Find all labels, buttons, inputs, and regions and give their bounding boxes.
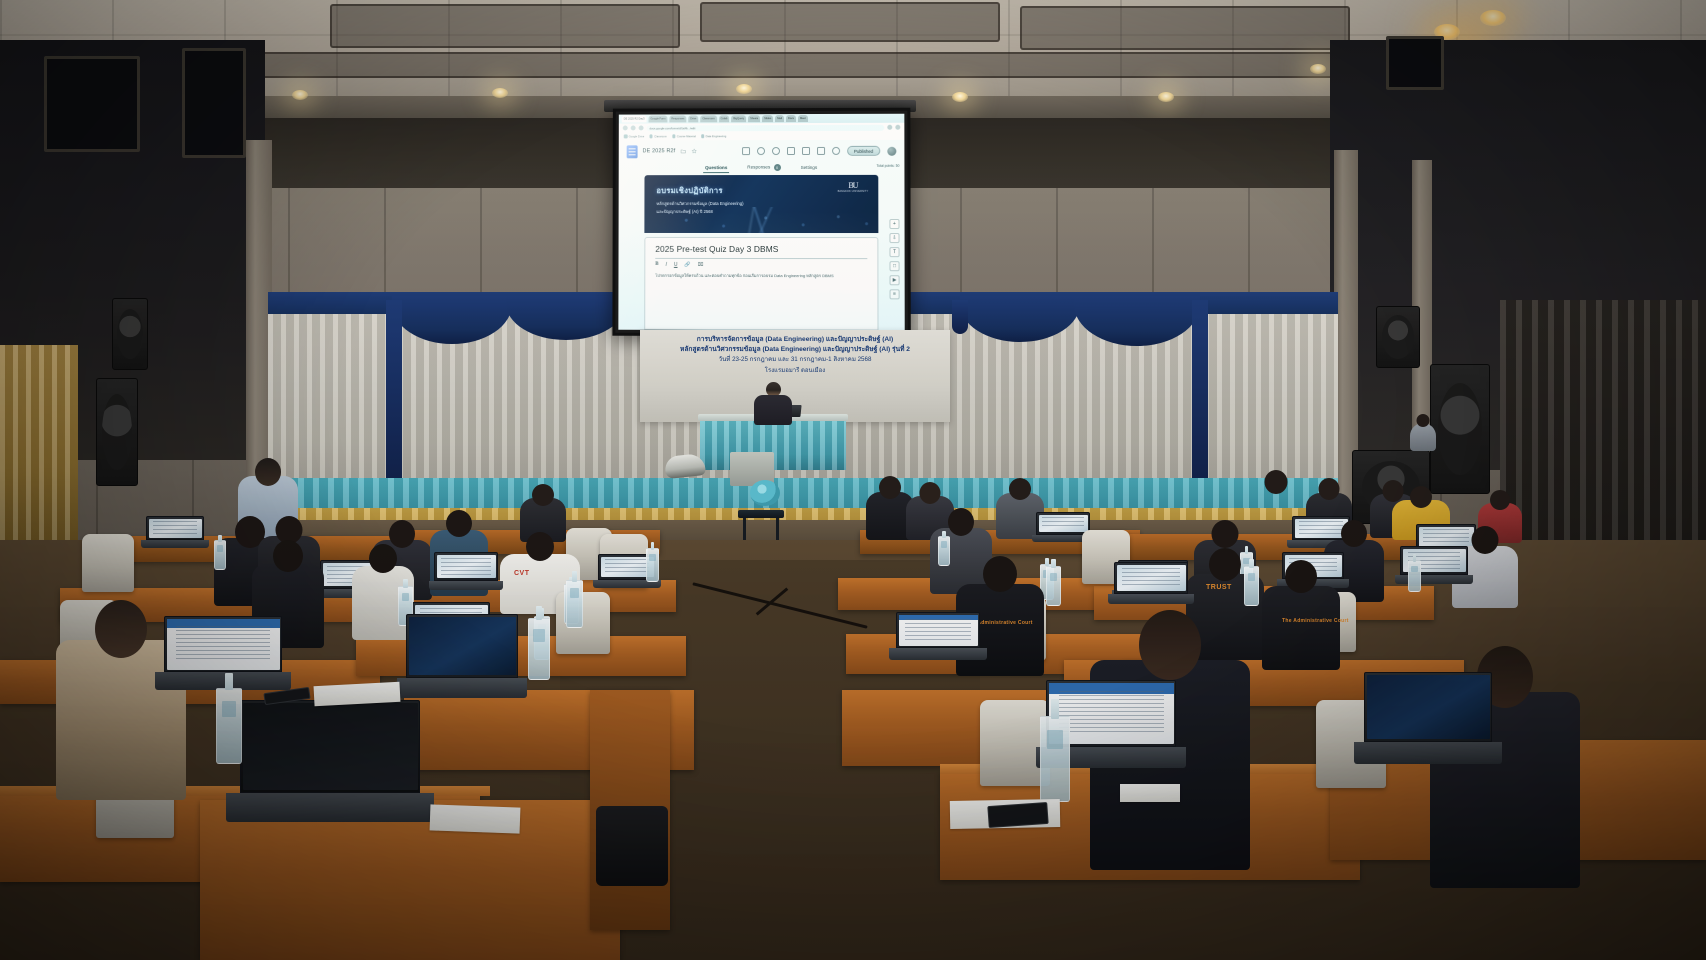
screen-text-lines bbox=[1042, 517, 1083, 529]
laptop bbox=[146, 516, 204, 548]
logo-subtext: BANGKOK UNIVERSITY bbox=[838, 190, 869, 193]
flower-arrangement bbox=[750, 480, 780, 514]
laptop bbox=[1364, 672, 1492, 764]
laptop bbox=[434, 552, 498, 590]
ceiling-downlight bbox=[1158, 92, 1174, 102]
ceiling-coffer bbox=[700, 2, 1000, 42]
link-icon[interactable]: 🔗 bbox=[684, 262, 690, 268]
banner-line-1: การบริหารจัดการข้อมูล (Data Engineering)… bbox=[640, 335, 950, 345]
laptop-base bbox=[226, 793, 435, 822]
water-bottle bbox=[528, 618, 550, 680]
title-underline bbox=[655, 258, 867, 259]
clear-format-icon[interactable]: ⌧ bbox=[698, 262, 704, 268]
attendee-head bbox=[983, 556, 1017, 592]
bookmark-label: Data Engineering bbox=[706, 135, 727, 138]
floor-bag bbox=[596, 806, 668, 886]
profile-icon[interactable] bbox=[895, 125, 900, 130]
attendee-head bbox=[1417, 414, 1430, 427]
water-bottle bbox=[566, 580, 583, 628]
laptop-lid bbox=[434, 552, 498, 581]
google-forms-editor: DE 2025 R2f Pub bbox=[618, 140, 904, 331]
wall-window bbox=[1386, 36, 1444, 90]
form-description-input[interactable]: โปรดกรอกข้อมูลให้ครบถ้วน และตอบคำถามทุกข… bbox=[655, 272, 867, 279]
water-bottle bbox=[1046, 566, 1061, 606]
smartphone bbox=[987, 802, 1048, 828]
avatar[interactable] bbox=[887, 146, 896, 155]
water-bottle bbox=[214, 540, 226, 570]
side-curtain-gold bbox=[0, 345, 78, 555]
browser-tab[interactable]: Slides bbox=[762, 115, 773, 122]
attendee-head bbox=[273, 540, 303, 572]
tab-settings[interactable]: Settings bbox=[801, 165, 818, 172]
laptop-lid bbox=[146, 516, 204, 540]
laptop-lid bbox=[406, 614, 518, 678]
laptop-base bbox=[397, 678, 527, 698]
attendee-head bbox=[1265, 470, 1288, 494]
screen-text-lines bbox=[176, 626, 271, 662]
pa-speaker bbox=[1430, 364, 1490, 494]
water-bottle bbox=[1040, 716, 1070, 802]
browser-tab[interactable]: Meet bbox=[798, 115, 808, 122]
water-bottle bbox=[1244, 566, 1259, 606]
add-title-icon[interactable]: T bbox=[889, 247, 899, 257]
wall-window bbox=[44, 56, 140, 152]
attendee-head bbox=[1319, 478, 1340, 500]
bookmark-item[interactable]: Data Engineering bbox=[701, 134, 727, 138]
bookmark-icon bbox=[672, 135, 675, 138]
attendee-head bbox=[1490, 490, 1510, 510]
ceiling-downlight bbox=[736, 84, 752, 94]
add-collaborator-icon[interactable] bbox=[832, 147, 840, 155]
attendee-head bbox=[369, 544, 397, 573]
forms-topbar-actions: Published bbox=[742, 146, 897, 156]
forms-tab-bar[interactable]: Questions Responses 0 Settings bbox=[619, 162, 905, 175]
total-points-label: Total points: 50 bbox=[876, 164, 899, 168]
laptop-lid bbox=[1364, 672, 1492, 742]
projection-screen: DE 2025 R2 Day3 Google Form Responses Dr… bbox=[612, 108, 910, 337]
seminar-room-photo: DE 2025 R2 Day3 Google Form Responses Dr… bbox=[0, 0, 1706, 960]
laptop-base bbox=[141, 540, 208, 548]
bookmark-item[interactable]: Classroom bbox=[649, 135, 667, 139]
ceiling-coffer bbox=[250, 52, 1430, 78]
screen-text-lines bbox=[1122, 568, 1180, 587]
form-title-card[interactable]: 2025 Pre-test Quiz Day 3 DBMS B I U 🔗 ⌧ … bbox=[644, 237, 878, 331]
banner-university-logo: BU BANGKOK UNIVERSITY bbox=[838, 181, 869, 193]
logo-mark: BU bbox=[838, 181, 869, 190]
link-icon[interactable] bbox=[772, 147, 780, 155]
preview-icon[interactable] bbox=[757, 147, 765, 155]
laptop-base bbox=[1108, 594, 1194, 604]
banner-headline: อบรมเชิงปฏิบัติการ bbox=[656, 185, 743, 197]
attendee-head bbox=[532, 484, 554, 506]
attendee-body bbox=[1262, 586, 1340, 670]
reload-icon[interactable] bbox=[639, 125, 644, 130]
customize-theme-icon[interactable] bbox=[742, 147, 750, 155]
pa-speaker bbox=[1376, 306, 1420, 368]
bold-icon[interactable]: B bbox=[655, 262, 658, 267]
laptop-screen bbox=[167, 619, 280, 670]
water-bottle bbox=[646, 548, 659, 582]
laptop-screen bbox=[409, 617, 516, 676]
underline-icon[interactable]: U bbox=[674, 262, 678, 268]
laptop-lid bbox=[164, 616, 282, 672]
add-section-icon[interactable]: ≡ bbox=[890, 289, 900, 299]
forms-topbar: DE 2025 R2f Pub bbox=[619, 140, 905, 163]
bookmark-icon bbox=[624, 135, 627, 138]
browser-tab[interactable]: Drive bbox=[688, 115, 698, 122]
rich-text-toolbar[interactable]: B I U 🔗 ⌧ bbox=[655, 262, 867, 268]
laptop-screen bbox=[243, 703, 418, 791]
laptop-lid bbox=[896, 612, 980, 648]
add-image-icon[interactable]: □ bbox=[889, 261, 899, 271]
laptop-screen bbox=[437, 555, 496, 579]
banner-text-block: อบรมเชิงปฏิบัติการ หลักสูตรด้านวิศวกรรมข… bbox=[656, 185, 743, 215]
laptop bbox=[164, 616, 282, 690]
attendee-head bbox=[879, 476, 901, 499]
ceiling-coffer bbox=[330, 4, 680, 48]
folder-icon[interactable] bbox=[680, 148, 686, 154]
bookmark-icon bbox=[701, 134, 704, 137]
bookmark-item[interactable]: Course Material bbox=[672, 135, 696, 139]
browser-tab[interactable]: Responses bbox=[669, 115, 686, 122]
form-banner-image[interactable]: อบรมเชิงปฏิบัติการ หลักสูตรด้านวิศวกรรมข… bbox=[644, 175, 878, 233]
laptop-base bbox=[889, 648, 986, 660]
laptop-base bbox=[1354, 742, 1502, 764]
form-document-title[interactable]: DE 2025 R2f bbox=[643, 148, 676, 154]
extensions-icon[interactable] bbox=[887, 125, 892, 130]
attendee-head bbox=[95, 600, 147, 658]
banner-line-3: วันที่ 23-25 กรกฎาคม และ 31 กรกฎาคม-1 สิ… bbox=[640, 356, 950, 365]
laptop bbox=[406, 614, 518, 698]
side-curtain-dark bbox=[1500, 300, 1706, 560]
ceiling-downlight bbox=[952, 92, 968, 102]
browser-tab[interactable]: Docs bbox=[786, 115, 796, 122]
attendee-head bbox=[255, 458, 281, 486]
water-bottle bbox=[938, 536, 950, 566]
shirt-graphic-text: TRUST bbox=[1206, 584, 1232, 591]
curtain-swag-tail bbox=[386, 300, 402, 490]
attendee bbox=[1410, 414, 1436, 450]
laptop-base bbox=[429, 581, 503, 590]
ceiling-downlight bbox=[492, 88, 508, 98]
laptop-lid bbox=[1114, 562, 1188, 594]
laptop-screen bbox=[899, 615, 978, 646]
ceiling-downlight bbox=[1310, 64, 1326, 74]
send-icon[interactable] bbox=[817, 147, 825, 155]
forward-icon[interactable] bbox=[631, 125, 636, 130]
pa-speaker bbox=[96, 378, 138, 486]
add-video-icon[interactable]: ▶ bbox=[890, 275, 900, 285]
bookmark-label: Classroom bbox=[654, 135, 667, 138]
browser-tab[interactable]: Classroom bbox=[700, 115, 716, 122]
attendee-head bbox=[1341, 520, 1367, 547]
laptop-lid bbox=[240, 700, 420, 793]
wall-window bbox=[182, 48, 246, 158]
forms-canvas: อบรมเชิงปฏิบัติการ หลักสูตรด้านวิศวกรรมข… bbox=[618, 175, 904, 331]
shirt-graphic-text: The Administrative Court bbox=[1282, 618, 1349, 624]
address-bar[interactable]: docs.google.com/forms/d/1aXk.../edit bbox=[647, 124, 885, 131]
browser-tab[interactable]: Google Form bbox=[648, 115, 667, 122]
laptop-base bbox=[1395, 575, 1474, 584]
browser-tab-active[interactable]: DE 2025 R2 Day3 bbox=[622, 116, 647, 123]
browser-tab[interactable]: Mail bbox=[775, 115, 784, 122]
banner-line-4: โรงแรมอมารี ดอนเมือง bbox=[640, 367, 950, 376]
attendee-head bbox=[920, 482, 941, 504]
tab-questions[interactable]: Questions bbox=[705, 165, 727, 172]
star-icon[interactable] bbox=[691, 148, 697, 154]
presenter-person bbox=[752, 382, 794, 424]
browser-tab[interactable]: Colab bbox=[719, 115, 730, 122]
presenter-body bbox=[754, 395, 792, 425]
attendee-head bbox=[1209, 548, 1241, 581]
bookmark-label: Google Drive bbox=[629, 135, 645, 138]
google-forms-icon bbox=[627, 145, 638, 158]
shirt-graphic-text: CVT bbox=[514, 570, 530, 577]
bookmark-label: Course Material bbox=[677, 135, 696, 138]
undo-icon[interactable] bbox=[787, 147, 795, 155]
laptop-screen bbox=[1039, 515, 1088, 533]
attendee-body bbox=[1410, 423, 1436, 451]
curtain-swag-tail bbox=[952, 300, 968, 334]
av-cart-top bbox=[738, 510, 784, 518]
laptop bbox=[240, 700, 420, 822]
chair bbox=[82, 534, 134, 592]
attendee-head bbox=[1212, 520, 1239, 548]
screen-text-lines bbox=[1059, 691, 1164, 734]
screen-text-lines bbox=[605, 559, 650, 574]
screen-text-lines bbox=[441, 558, 491, 575]
responses-count-badge: 0 bbox=[774, 164, 781, 171]
import-questions-icon[interactable]: ⇩ bbox=[889, 233, 899, 243]
redo-icon[interactable] bbox=[802, 147, 810, 155]
desk-row bbox=[200, 800, 620, 960]
attendee-head bbox=[1410, 486, 1432, 508]
water-bottle bbox=[1408, 560, 1421, 592]
form-title-input[interactable]: 2025 Pre-test Quiz Day 3 DBMS bbox=[655, 244, 867, 254]
ceiling-spotlight bbox=[1480, 10, 1506, 26]
browser-tab[interactable]: Sheets bbox=[748, 115, 760, 122]
banner-line-2: หลักสูตรด้านวิศวกรรมข้อมูล (Data Enginee… bbox=[640, 345, 950, 355]
attendee-head bbox=[446, 510, 472, 537]
water-bottle bbox=[216, 688, 242, 764]
laptop-screen bbox=[149, 519, 202, 538]
laptop bbox=[1114, 562, 1188, 604]
laptop-screen bbox=[1367, 675, 1490, 740]
attendee-head bbox=[1139, 610, 1201, 680]
italic-icon[interactable]: I bbox=[666, 262, 667, 268]
attendee-head bbox=[1009, 478, 1031, 500]
laptop-screen bbox=[1117, 565, 1186, 592]
attendee-head bbox=[948, 508, 974, 536]
laptop bbox=[896, 612, 980, 660]
laptop-lid bbox=[1036, 512, 1090, 535]
attendee-head bbox=[1472, 526, 1499, 554]
bookmark-item[interactable]: Google Drive bbox=[624, 135, 645, 139]
tab-responses-label: Responses bbox=[747, 165, 770, 170]
bookmark-icon bbox=[649, 135, 652, 138]
banner-subline-2: และปัญญาประดิษฐ์ (AI) ปี 2568 bbox=[656, 208, 743, 215]
attendee-head bbox=[1285, 560, 1317, 593]
forms-side-rail[interactable]: + ⇩ T □ ▶ ≡ bbox=[888, 219, 900, 299]
ceiling-downlight bbox=[292, 90, 308, 100]
flower-ball bbox=[750, 480, 780, 506]
attendee-head bbox=[526, 532, 554, 561]
tab-responses[interactable]: Responses 0 bbox=[747, 164, 780, 173]
ceiling-coffer bbox=[1020, 6, 1350, 50]
add-question-icon[interactable]: + bbox=[889, 219, 899, 229]
browser-tab[interactable]: BigQuery bbox=[731, 115, 746, 122]
attendee bbox=[1262, 560, 1340, 670]
curtain-swag-tail bbox=[1192, 300, 1208, 490]
paper-sheet bbox=[1120, 784, 1180, 802]
banner-subline-1: หลักสูตรด้านวิศวกรรมข้อมูล (Data Enginee… bbox=[656, 200, 743, 207]
paper-sheet bbox=[430, 804, 521, 833]
publish-status-button[interactable]: Published bbox=[847, 146, 880, 156]
screen-text-lines bbox=[905, 619, 971, 641]
back-icon[interactable] bbox=[623, 125, 628, 130]
screen-text-lines bbox=[153, 521, 198, 535]
pa-speaker bbox=[112, 298, 148, 370]
projected-desktop: DE 2025 R2 Day3 Google Form Responses Dr… bbox=[618, 114, 904, 331]
